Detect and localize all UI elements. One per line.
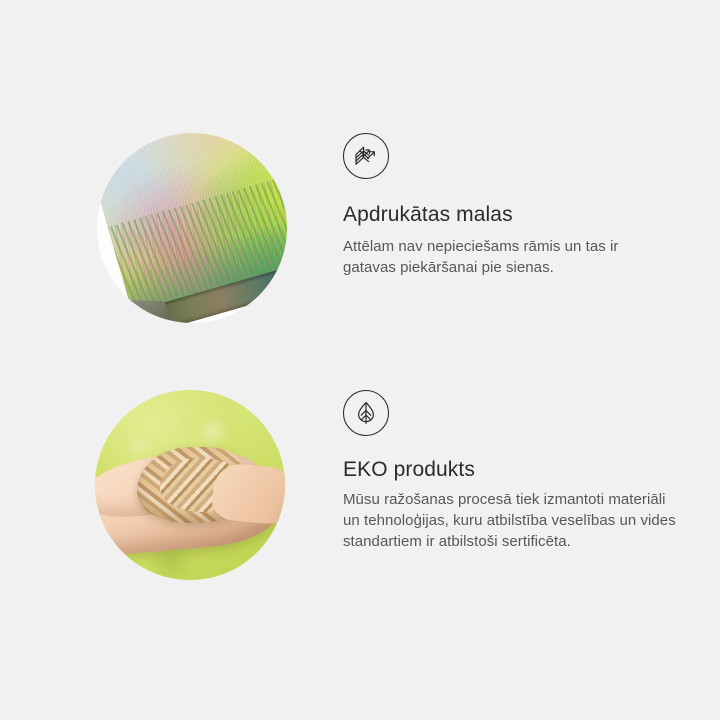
- feature-info-printed-edges: Apdrukātas malas Attēlam nav nepieciešam…: [343, 133, 688, 278]
- feature-info-eco-product: EKO produkts Mūsu ražošanas procesā tiek…: [343, 390, 688, 552]
- feature-title: EKO produkts: [343, 457, 688, 482]
- printed-edges-icon: [343, 133, 389, 179]
- feature-description: Mūsu ražošanas procesā tiek izmantoti ma…: [343, 489, 681, 552]
- feature-title: Apdrukātas malas: [343, 202, 688, 227]
- product-features-panel: Apdrukātas malas Attēlam nav nepieciešam…: [0, 0, 720, 720]
- hands-holding-wood-chips-photo: [95, 390, 285, 580]
- canvas-photo-scene: [97, 133, 287, 323]
- meadow-background: [95, 390, 285, 580]
- leaf-icon-glyph: [353, 400, 379, 426]
- leaf-icon: [343, 390, 389, 436]
- printed-edges-icon-glyph: [353, 143, 379, 169]
- feature-description: Attēlam nav nepieciešams rāmis un tas ir…: [343, 236, 671, 278]
- canvas-print-corner-photo: [97, 133, 287, 323]
